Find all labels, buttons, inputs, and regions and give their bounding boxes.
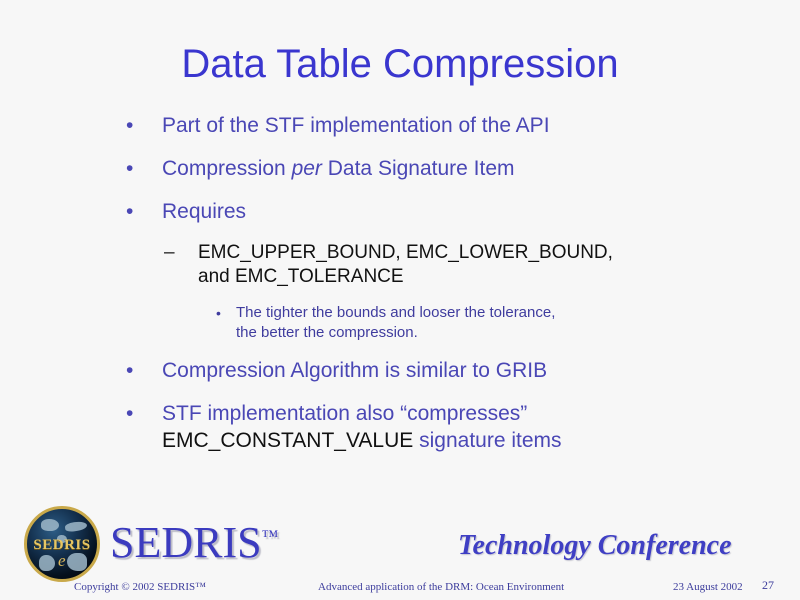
text-emphasis: per <box>292 157 322 180</box>
bullet-marker-icon: • <box>126 400 133 427</box>
sub-list-item-line2: and EMC_TOLERANCE <box>198 265 738 289</box>
list-item-line2: EMC_CONSTANT_VALUE signature items <box>162 427 738 454</box>
trademark-symbol: ™ <box>262 526 279 545</box>
bullet-marker-icon: • <box>216 303 221 323</box>
page-title: Data Table Compression <box>0 40 800 88</box>
globe-landmass-icon <box>41 519 59 531</box>
copyright-text: Copyright © 2002 SEDRIS™ <box>74 580 206 594</box>
bullet-marker-icon: • <box>126 198 133 225</box>
footer-page-number: 27 <box>762 578 774 592</box>
bullet-marker-icon: • <box>126 112 133 139</box>
globe-landmass-icon <box>64 521 87 533</box>
list-item-label: Compression per Data Signature Item <box>162 155 738 182</box>
sedris-globe-logo-icon: SEDRIS e <box>24 506 100 582</box>
globe-landmass-icon <box>67 553 87 571</box>
list-item-line1: STF implementation also “compresses” <box>162 400 738 427</box>
sub-sub-list-item: • The tighter the bounds and looser the … <box>118 303 738 343</box>
sub-sub-list-item-line1: The tighter the bounds and looser the to… <box>236 303 738 323</box>
list-item: • Compression per Data Signature Item <box>118 155 738 182</box>
list-item-label: Compression Algorithm is similar to GRIB <box>162 357 738 384</box>
sedris-wordmark: SEDRIS™ <box>110 521 278 565</box>
bullet-marker-icon: • <box>126 357 133 384</box>
list-item: • Part of the STF implementation of the … <box>118 112 738 139</box>
footer-center-text: Advanced application of the DRM: Ocean E… <box>318 580 564 594</box>
list-item: • Compression Algorithm is similar to GR… <box>118 357 738 384</box>
list-item-label: Part of the STF implementation of the AP… <box>162 112 738 139</box>
list-item: • STF implementation also “compresses” E… <box>118 400 738 454</box>
technology-conference-label: Technology Conference <box>458 530 732 562</box>
list-item-line2-rest: signature items <box>413 429 561 452</box>
footer-date: 23 August 2002 <box>673 580 743 594</box>
bullet-list: • Part of the STF implementation of the … <box>118 112 738 470</box>
bullet-marker-icon: • <box>126 155 133 182</box>
text-pre: Compression <box>162 157 292 180</box>
dash-marker-icon: – <box>164 241 175 265</box>
slide-canvas: Data Table Compression • Part of the STF… <box>0 0 800 600</box>
sub-sub-list-item-line2: the better the compression. <box>236 323 738 343</box>
sub-list-item: – EMC_UPPER_BOUND, EMC_LOWER_BOUND, and … <box>118 241 738 289</box>
globe-landmass-icon <box>39 555 55 571</box>
logo-mark-glyph: e <box>58 551 66 571</box>
code-token: EMC_CONSTANT_VALUE <box>162 429 413 452</box>
sedris-wordmark-text: SEDRIS <box>110 518 262 567</box>
sub-list-item-line1: EMC_UPPER_BOUND, EMC_LOWER_BOUND, <box>198 241 738 265</box>
list-item: • Requires <box>118 198 738 225</box>
text-post: Data Signature Item <box>322 157 515 180</box>
list-item-label: Requires <box>162 198 738 225</box>
